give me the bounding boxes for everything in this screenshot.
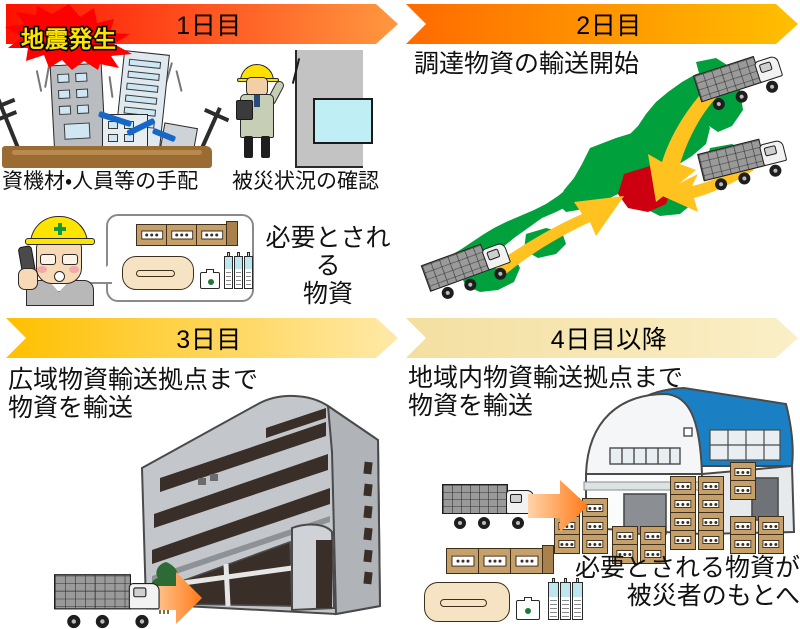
caption-to-local-hub: 地域内物資輸送拠点まで 物資を輸送 [408, 364, 728, 420]
tie-icon [254, 95, 260, 107]
caption-arrange-resources: 資機材・人員等の手配 [2, 170, 222, 194]
cheek-icon [69, 266, 79, 273]
utility-pole-icon [200, 107, 222, 149]
glasses-icon [62, 254, 78, 265]
glasses-icon [40, 254, 56, 265]
inspector-worker-icon [230, 58, 290, 168]
earthquake-burst-icon: 地震発生 [4, 4, 134, 70]
blanket-icon [122, 256, 194, 290]
speech-bubble-icon [106, 214, 254, 302]
banner-day-4-label: 4日目以降 [406, 318, 798, 358]
mouth-icon [54, 271, 65, 282]
water-bottle-icon [244, 256, 253, 289]
crack-icon [292, 58, 300, 84]
blanket-icon [424, 582, 510, 622]
banner-day-3: 3日目 [6, 318, 398, 358]
water-bottle-icon [234, 256, 243, 289]
caption-needed-supplies: 必要とされる 物資 [256, 224, 400, 308]
caption-confirm-damage: 被災状況の確認 [232, 170, 400, 194]
water-bottle-icon [224, 256, 233, 289]
utility-pole-icon [0, 95, 20, 148]
green-cross-icon [54, 223, 66, 235]
panel-day-1: 1日目 [0, 0, 400, 315]
truck-icon [54, 572, 175, 625]
banner-day-4: 4日目以降 [406, 318, 798, 358]
caption-to-wide-area-hub: 広域物資輸送拠点まで 物資を輸送 [8, 366, 308, 422]
banner-day-2: 2日目 [406, 4, 798, 44]
legs-icon [244, 136, 270, 162]
panel-day-2: 2日目 [400, 0, 800, 315]
ground-icon [2, 146, 212, 168]
first-aid-kit-icon [200, 272, 220, 289]
clipboard-icon [236, 100, 253, 120]
first-aid-kit-icon [516, 600, 540, 620]
panel-day-4: 4日目以降 [400, 314, 800, 629]
worker-on-phone-icon [18, 216, 104, 304]
caption-to-victims: 必要とされる物資が 被災者のもとへ [542, 554, 800, 610]
banner-day-3-label: 3日目 [6, 318, 398, 358]
earthquake-burst-label: 地震発生 [4, 4, 134, 70]
hand-icon [18, 268, 38, 290]
banner-day-2-label: 2日目 [406, 4, 798, 44]
damaged-wall-icon [295, 50, 363, 168]
cheek-icon [37, 266, 47, 273]
panel-day-3: 3日目 [0, 314, 400, 629]
orange-arrow-icon [528, 480, 588, 532]
caption-start-transport: 調達物資の輸送開始 [414, 50, 744, 78]
window-icon [313, 98, 373, 144]
